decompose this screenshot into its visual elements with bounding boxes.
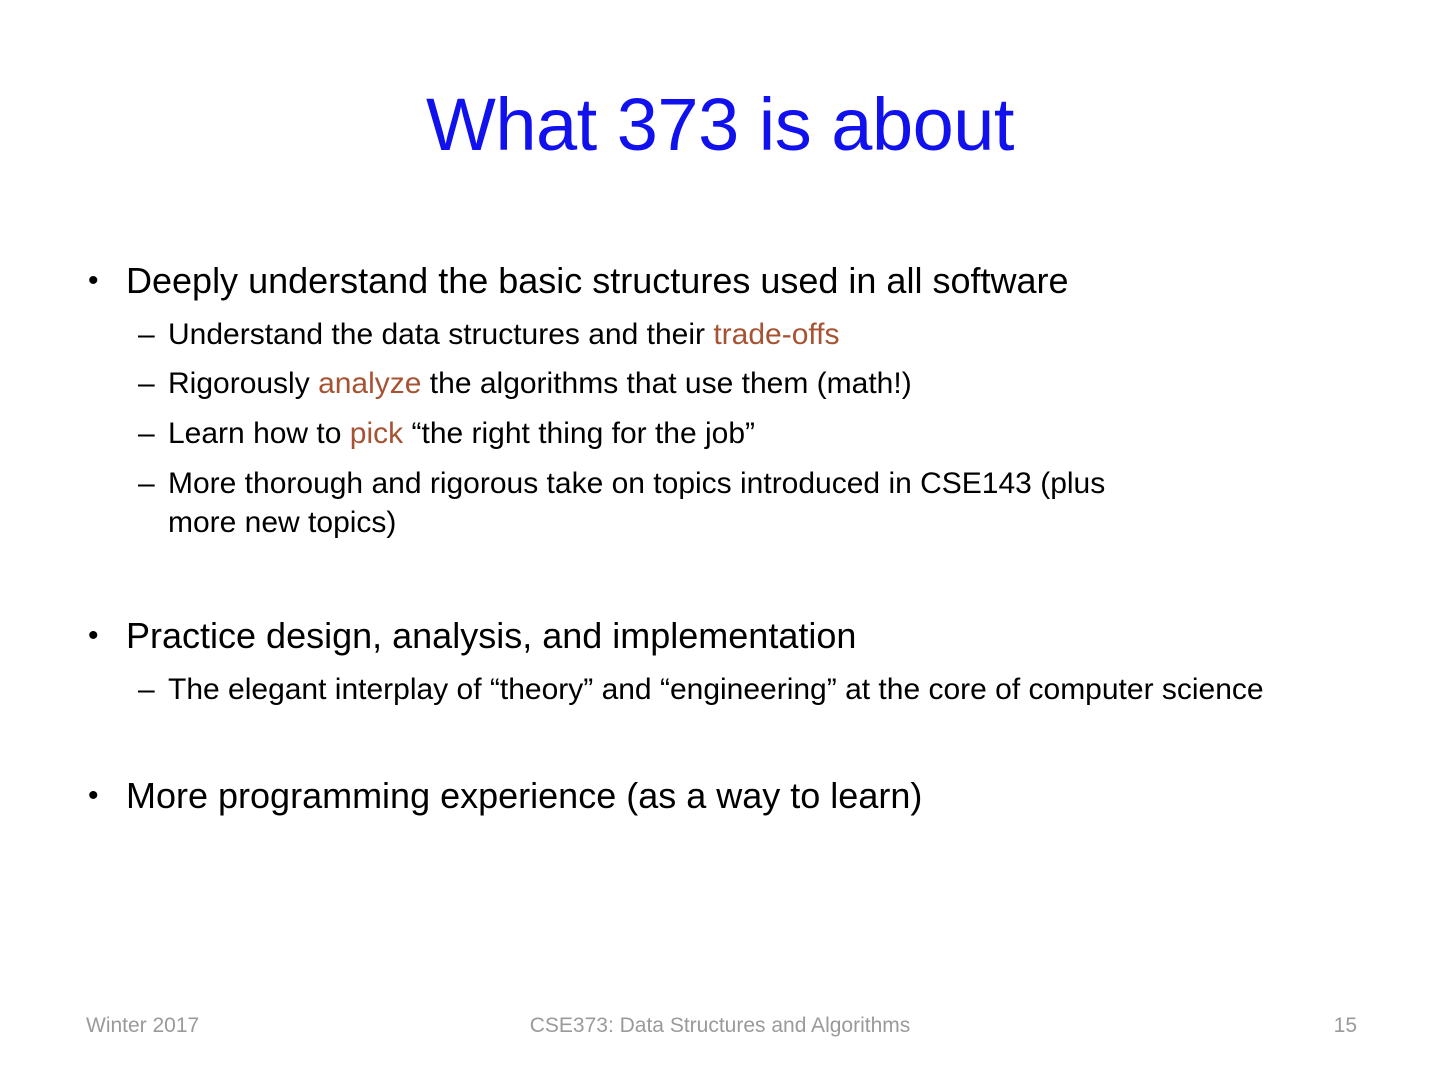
dash-icon: – — [138, 316, 155, 355]
bullet-level2: – Understand the data structures and the… — [80, 316, 1370, 355]
bullet-level2-highlight: trade-offs — [713, 318, 839, 351]
bullet-level1: • Practice design, analysis, and impleme… — [80, 613, 1370, 660]
bullet-level2-highlight: analyze — [318, 367, 421, 400]
slide-canvas: What 373 is about • Deeply understand th… — [0, 0, 1440, 1080]
bullet-level2-text: Learn how to — [168, 417, 350, 450]
bullet-level2: – Rigorously analyze the algorithms that… — [80, 365, 1370, 404]
bullet-level2-highlight: pick — [350, 417, 403, 450]
dash-icon: – — [138, 465, 155, 504]
slide-footer: Winter 2017 CSE373: Data Structures and … — [0, 1014, 1440, 1054]
bullet-dot-icon: • — [88, 773, 99, 819]
bullet-level2-text-post: the algorithms that use them (math!) — [421, 367, 911, 400]
footer-page-number: 15 — [1334, 1014, 1357, 1038]
dash-icon: – — [138, 671, 155, 710]
bullet-level1: • Deeply understand the basic structures… — [80, 258, 1370, 305]
bullet-level2-text-post: “the right thing for the job” — [403, 417, 755, 450]
bullet-level2: – Learn how to pick “the right thing for… — [80, 415, 1370, 454]
bullet-dot-icon: • — [88, 258, 99, 304]
bullet-level2-text: The elegant interplay of “theory” and “e… — [168, 673, 1264, 706]
bullet-level2-text: Rigorously — [168, 367, 318, 400]
spacer — [80, 553, 1370, 613]
footer-course: CSE373: Data Structures and Algorithms — [0, 1014, 1440, 1038]
bullet-level2-text: More thorough and rigorous take on topic… — [168, 467, 1105, 539]
sublist-bullet1: – Understand the data structures and the… — [80, 316, 1370, 542]
bullet-level1-text: Practice design, analysis, and implement… — [126, 615, 856, 656]
bullet-level1: • More programming experience (as a way … — [80, 773, 1370, 820]
bullet-dot-icon: • — [88, 613, 99, 659]
spacer — [80, 721, 1370, 773]
slide-body: • Deeply understand the basic structures… — [80, 258, 1370, 824]
sublist-bullet2: – The elegant interplay of “theory” and … — [80, 671, 1370, 710]
dash-icon: – — [138, 415, 155, 454]
bullet-level2-text: Understand the data structures and their — [168, 318, 713, 351]
bullet-level2: – The elegant interplay of “theory” and … — [80, 671, 1370, 710]
bullet-level1-text: Deeply understand the basic structures u… — [126, 260, 1069, 301]
slide-title: What 373 is about — [0, 88, 1440, 162]
bullet-level1-text: More programming experience (as a way to… — [126, 775, 922, 816]
bullet-level2: – More thorough and rigorous take on top… — [80, 465, 1370, 542]
dash-icon: – — [138, 365, 155, 404]
